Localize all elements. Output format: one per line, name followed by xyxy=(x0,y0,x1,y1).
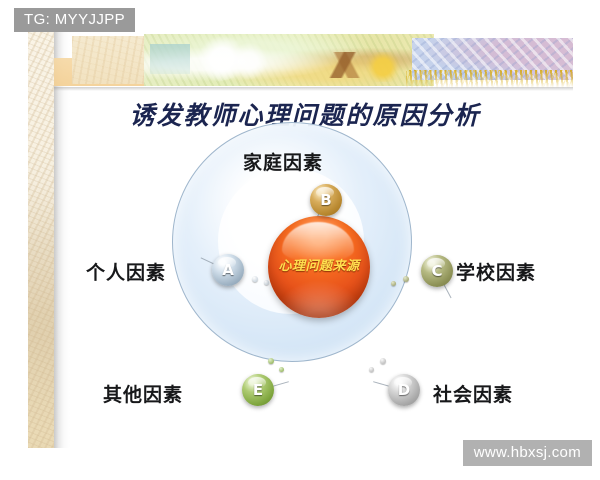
connector-dot xyxy=(279,367,284,372)
banner-teal-patch xyxy=(150,44,190,74)
cause-analysis-diagram: 心理问题来源 A B C D E 个人因素 家庭因素 学校因素 社会因素 其他因… xyxy=(28,108,573,438)
connector-dot xyxy=(252,276,258,282)
banner-yellow-bloom xyxy=(366,52,400,82)
node-key-label: A xyxy=(212,254,244,286)
diagram-node-e[interactable]: E xyxy=(242,374,274,406)
node-label-school: 学校因素 xyxy=(456,258,536,285)
slide-canvas: 诱发教师心理问题的原因分析 心理问题来源 A xyxy=(28,30,573,448)
node-key-label: E xyxy=(242,374,274,406)
node-key-label: D xyxy=(388,374,420,406)
diagram-node-c[interactable]: C xyxy=(421,255,453,287)
node-label-other: 其他因素 xyxy=(103,380,183,407)
node-label-social: 社会因素 xyxy=(433,380,513,407)
node-key-label: B xyxy=(310,184,342,216)
decorative-header-banner xyxy=(54,30,573,88)
connector-dot xyxy=(380,358,386,364)
connector-dot xyxy=(403,276,409,282)
banner-bird-icon xyxy=(320,52,372,78)
banner-gold-speckle xyxy=(406,70,573,88)
connector-dot xyxy=(369,367,374,372)
node-label-family: 家庭因素 xyxy=(243,148,323,175)
node-key-label: C xyxy=(421,255,453,287)
watermark-top-left: TG: MYYJJPP xyxy=(14,8,135,32)
banner-underline xyxy=(54,87,573,91)
node-label-personal: 个人因素 xyxy=(86,258,166,285)
diagram-node-b[interactable]: B xyxy=(310,184,342,216)
connector-dot xyxy=(264,280,269,285)
diagram-node-a[interactable]: A xyxy=(212,254,244,286)
center-sphere-label: 心理问题来源 xyxy=(268,255,370,274)
connector-dot xyxy=(391,281,396,286)
watermark-bottom-right: www.hbxsj.com xyxy=(463,440,592,466)
diagram-node-d[interactable]: D xyxy=(388,374,420,406)
connector-dot xyxy=(268,358,274,364)
